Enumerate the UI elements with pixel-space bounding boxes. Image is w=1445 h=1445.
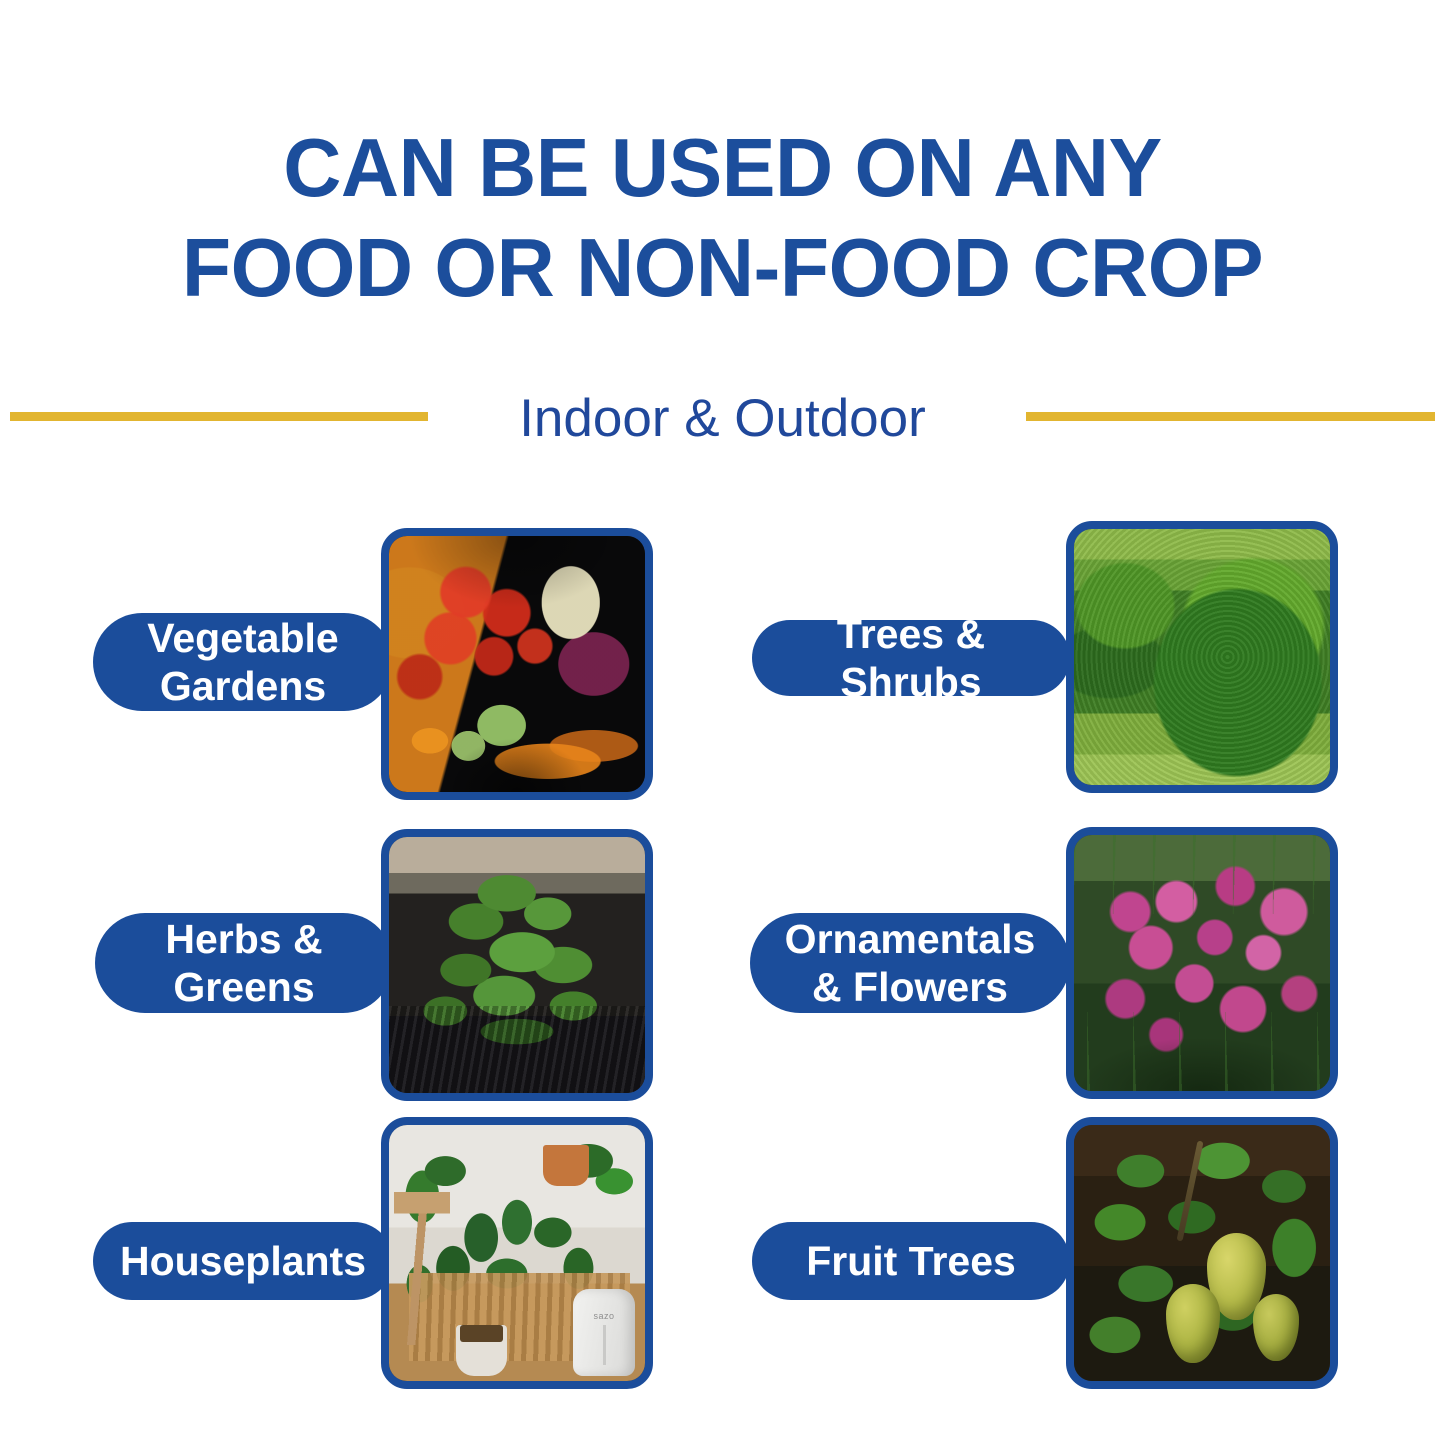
category-label-text: Fruit Trees: [806, 1237, 1016, 1285]
pear-tree-photo: [1074, 1125, 1330, 1381]
category-image-card-ornamentals-flowers[interactable]: [1066, 827, 1338, 1099]
category-label-text: Houseplants: [120, 1237, 366, 1285]
category-image-card-trees-shrubs[interactable]: [1066, 521, 1338, 793]
category-label-text: Trees & Shrubs: [778, 610, 1044, 706]
pear-fruit: [1166, 1284, 1220, 1363]
category-label-text: Vegetable Gardens: [147, 614, 338, 710]
terracotta-pot: [543, 1145, 589, 1186]
category-label-text: Ornamentals & Flowers: [785, 915, 1036, 1011]
indoor-houseplants-photo: sazo: [389, 1125, 645, 1381]
white-pot: [456, 1325, 507, 1376]
pink-chrysanthemum-photo: [1074, 835, 1330, 1091]
humidifier: sazo: [573, 1289, 634, 1376]
crop-category-grid: Vegetable Gardens Trees & Shrubs Herbs &…: [0, 0, 1445, 1445]
category-label-trees-shrubs[interactable]: Trees & Shrubs: [752, 620, 1070, 696]
vegetable-basket-photo: [389, 536, 645, 792]
pear-twig: [1176, 1141, 1203, 1242]
category-image-card-fruit-trees[interactable]: [1066, 1117, 1338, 1389]
herb-seedling-tray-photo: [389, 837, 645, 1093]
wooden-stool: [394, 1192, 450, 1346]
category-label-fruit-trees[interactable]: Fruit Trees: [752, 1222, 1070, 1300]
category-label-herbs-greens[interactable]: Herbs & Greens: [95, 913, 393, 1013]
category-image-card-vegetable-gardens[interactable]: [381, 528, 653, 800]
category-image-card-herbs-greens[interactable]: [381, 829, 653, 1101]
pear-fruit: [1253, 1294, 1299, 1361]
category-image-card-houseplants[interactable]: sazo: [381, 1117, 653, 1389]
category-label-ornamentals-flowers[interactable]: Ornamentals & Flowers: [750, 913, 1070, 1013]
humidifier-slot: [603, 1325, 606, 1365]
category-label-houseplants[interactable]: Houseplants: [93, 1222, 393, 1300]
category-label-vegetable-gardens[interactable]: Vegetable Gardens: [93, 613, 393, 711]
humidifier-brand-text: sazo: [573, 1311, 634, 1321]
category-label-text: Herbs & Greens: [165, 915, 322, 1011]
boxwood-shrub-photo: [1074, 529, 1330, 785]
